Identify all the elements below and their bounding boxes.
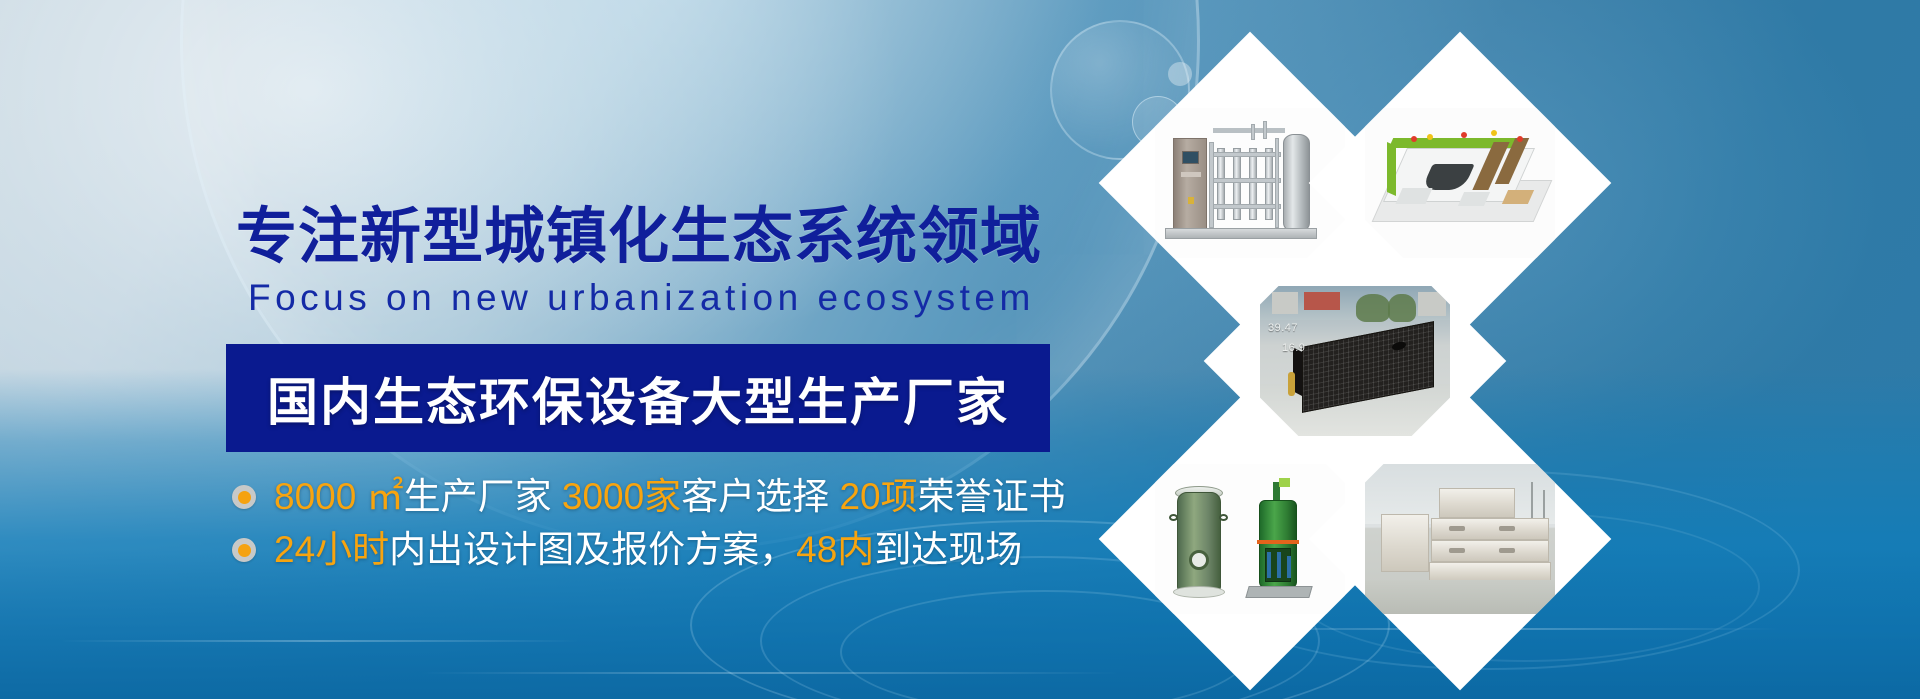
dimension-label-b: 16.9 — [1282, 342, 1305, 354]
highlight-band-text: 国内生态环保设备大型生产厂家 — [267, 361, 1009, 435]
feature-plain: 生产厂家 — [404, 476, 562, 517]
bullet-dot-icon — [232, 485, 256, 509]
water-streak-2 — [420, 672, 1120, 674]
bullet-dot-icon — [232, 538, 256, 562]
feature-plain: 到达现场 — [874, 529, 1022, 570]
water-streak-1 — [60, 640, 580, 642]
feature-highlight: 48内 — [796, 529, 874, 570]
feature-plain: 荣誉证书 — [918, 476, 1066, 517]
feature-plain: 客户选择 — [681, 476, 839, 517]
page-title: 专注新型城镇化生态系统领域 — [236, 206, 1076, 267]
feature-text: 8000 ㎡生产厂家 3000家客户选择 20项荣誉证书 — [274, 478, 1066, 517]
feature-list: 8000 ㎡生产厂家 3000家客户选择 20项荣誉证书 24小时内出设计图及报… — [226, 478, 1076, 570]
page-subtitle: Focus on new urbanization ecosystem — [248, 279, 1076, 316]
product-diamond-grid: 39.47 16.9 — [1075, 38, 1635, 598]
feature-text: 24小时内出设计图及报价方案，48内到达现场 — [274, 531, 1022, 570]
dimension-label-a: 39.47 — [1268, 322, 1298, 334]
feature-highlight: 20项 — [839, 476, 917, 517]
hero-banner: 专注新型城镇化生态系统领域 Focus on new urbanization … — [0, 0, 1920, 699]
feature-highlight: 8000 ㎡ — [274, 476, 404, 517]
photo-precast-concrete-panels — [1365, 464, 1555, 614]
photo-sewage-plant-model — [1365, 108, 1555, 258]
feature-highlight: 3000家 — [562, 476, 681, 517]
photo-membrane-module-site: 39.47 16.9 — [1260, 286, 1450, 436]
feature-highlight: 24小时 — [274, 529, 389, 570]
feature-plain: 内出设计图及报价方案， — [389, 529, 796, 570]
list-item: 24小时内出设计图及报价方案，48内到达现场 — [232, 531, 1076, 570]
list-item: 8000 ㎡生产厂家 3000家客户选择 20项荣誉证书 — [232, 478, 1076, 517]
highlight-band: 国内生态环保设备大型生产厂家 — [226, 344, 1050, 452]
hero-copy: 专注新型城镇化生态系统领域 Focus on new urbanization … — [226, 206, 1076, 584]
